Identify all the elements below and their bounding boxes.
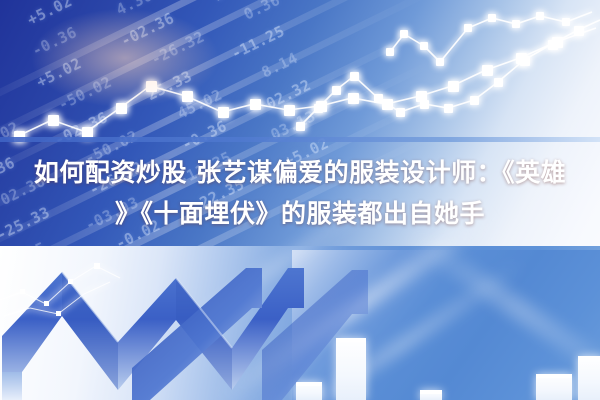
series-lower: [296, 20, 600, 131]
headline-line-2: 》《十面埋伏》的服装都出自她手: [0, 193, 600, 234]
banner-image: -50.02 -11.25 +5.02 45.02 21.36 -0.36 -0…: [0, 0, 600, 400]
sparkle-cluster: [0, 252, 200, 322]
bar-cap: [420, 390, 442, 394]
bar-cap: [578, 356, 600, 360]
headline-line-1: 如何配资炒股 张艺谋偏爱的服装设计师：《英雄: [0, 152, 600, 193]
bar-column: [420, 390, 442, 400]
bar-column: [578, 356, 600, 400]
bar-cap: [536, 374, 572, 378]
bar-column: [536, 374, 572, 400]
page-title: 如何配资炒股 张艺谋偏爱的服装设计师：《英雄 》《十面埋伏》的服装都出自她手: [0, 152, 600, 234]
band-glow: [30, 8, 220, 108]
band-top-edge: [0, 137, 600, 142]
